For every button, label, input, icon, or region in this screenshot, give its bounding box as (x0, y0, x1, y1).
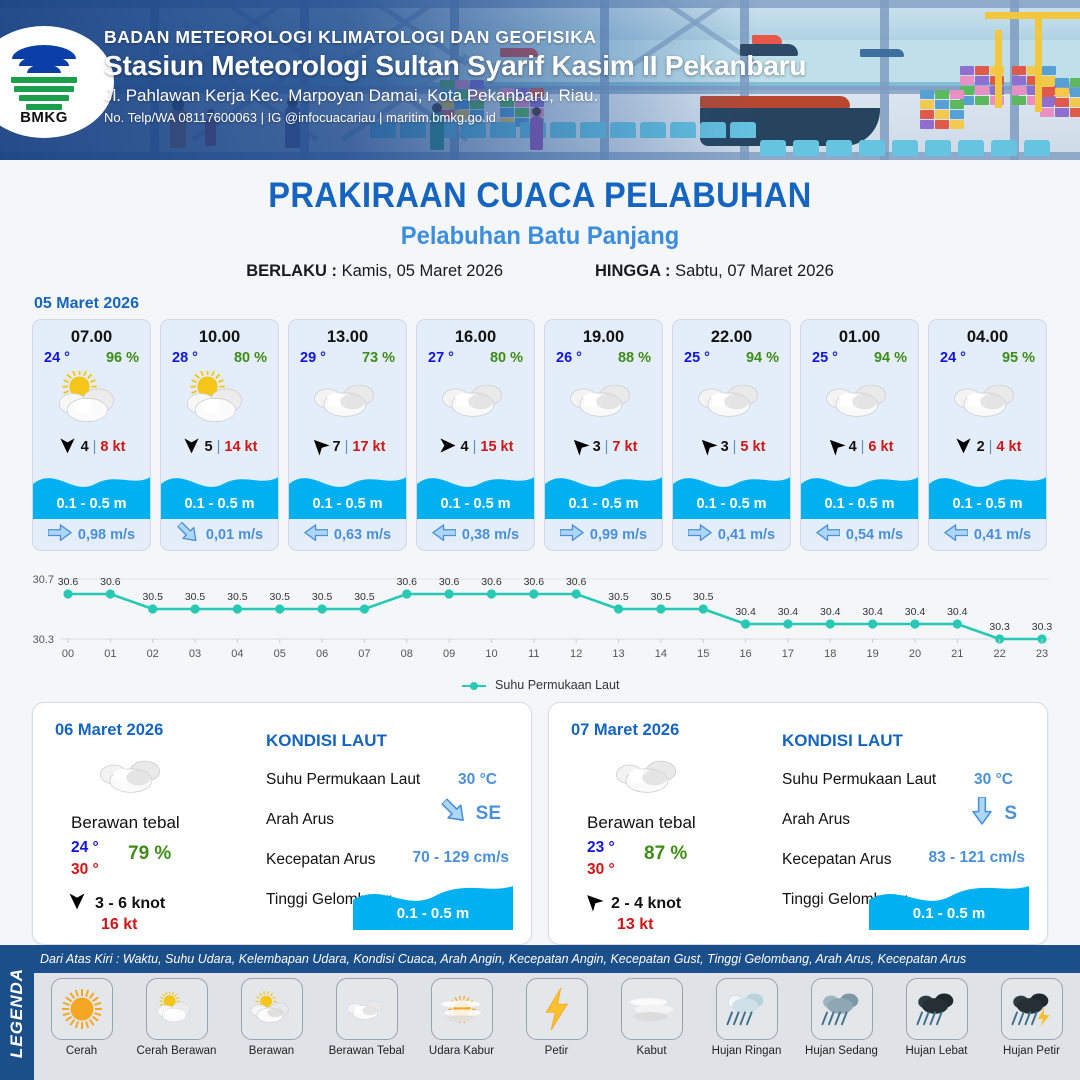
svg-text:21: 21 (951, 648, 963, 660)
day-gust: 16 kt (101, 916, 137, 934)
card-current-row: 0,98 m/s (33, 519, 150, 550)
card-time: 13.00 (289, 320, 406, 347)
cloud-icon (673, 368, 790, 430)
daily-forecast-panel[interactable]: 07 Maret 2026 Berawan tebal 23 ° 30 ° 87… (548, 702, 1048, 945)
legend-item-label: Cerah Berawan (137, 1045, 217, 1058)
forecast-card[interactable]: 01.00 25 ° 94 % 4 | 6 kt 0.1 - 0.5 m (800, 319, 919, 551)
card-current-speed: 0,01 m/s (206, 527, 263, 543)
card-temperature: 24 ° (940, 350, 966, 366)
separator: | (473, 439, 477, 455)
separator: | (861, 439, 865, 455)
legend-label: Suhu Permukaan Laut (495, 678, 619, 692)
legend-item: Hujan Petir (984, 973, 1079, 1058)
sea-surface-temp-value: 30 °C (974, 771, 1013, 789)
card-wind-speed: 3 (593, 439, 601, 455)
card-wave: 0.1 - 0.5 m (161, 464, 278, 519)
legend-tab: LEGENDA (0, 945, 34, 1080)
wind-direction-icon (826, 436, 845, 459)
valid-from-label: BERLAKU : (246, 262, 337, 280)
card-wave-height: 0.1 - 0.5 m (673, 496, 790, 512)
card-wind-row: 4 | 8 kt (33, 430, 150, 464)
card-wind-row: 5 | 14 kt (161, 430, 278, 464)
card-current-row: 0,38 m/s (417, 519, 534, 550)
day-wave: 0.1 - 0.5 m (353, 878, 513, 930)
svg-text:16: 16 (739, 648, 751, 660)
card-wind-speed: 2 (977, 439, 985, 455)
svg-text:10: 10 (485, 648, 497, 660)
current-direction-icon (176, 524, 200, 545)
cloud-icon (289, 368, 406, 430)
card-current-speed: 0,41 m/s (718, 527, 775, 543)
svg-text:30.6: 30.6 (439, 576, 460, 588)
legend-item-label: Cerah (66, 1045, 97, 1058)
day-row-label: Arah Arus (782, 811, 850, 829)
day-wind-speed: 2 - 4 knot (611, 895, 681, 913)
legend-item: Hujan Ringan (699, 973, 794, 1058)
svg-text:01: 01 (104, 648, 116, 660)
card-temp-humidity: 24 ° 96 % (33, 347, 150, 366)
svg-text:11: 11 (528, 648, 539, 660)
card-wave-height: 0.1 - 0.5 m (801, 496, 918, 512)
card-wave: 0.1 - 0.5 m (929, 464, 1046, 519)
logo-text: BMKG (5, 109, 83, 126)
day-row-label: Kecepatan Arus (266, 851, 375, 869)
day-date: 07 Maret 2026 (571, 721, 679, 740)
day-temp-min: 23 ° (587, 839, 615, 857)
card-gust: 8 kt (100, 439, 125, 455)
svg-text:04: 04 (231, 648, 243, 660)
valid-from-value: Kamis, 05 Maret 2026 (342, 262, 503, 280)
card-wave-height: 0.1 - 0.5 m (161, 496, 278, 512)
station-address: Jl. Pahlawan Kerja Kec. Marpoyan Damai, … (104, 86, 806, 106)
svg-text:30.5: 30.5 (227, 591, 248, 603)
haze-icon (431, 978, 493, 1040)
title-block: PRAKIRAAN CUACA PELABUHAN Pelabuhan Batu… (0, 176, 1080, 281)
card-wave-height: 0.1 - 0.5 m (929, 496, 1046, 512)
legend-item-label: Udara Kabur (429, 1045, 494, 1058)
card-humidity: 96 % (106, 350, 139, 366)
legend-item: Udara Kabur (414, 973, 509, 1058)
chart-legend: Suhu Permukaan Laut (0, 678, 1080, 692)
svg-text:15: 15 (697, 648, 709, 660)
separator: | (733, 439, 737, 455)
legend-item: Kabut (604, 973, 699, 1058)
svg-text:30.4: 30.4 (820, 606, 841, 618)
day-date: 06 Maret 2026 (55, 721, 163, 740)
fog-icon (621, 978, 683, 1040)
current-direction-value: S (1004, 803, 1017, 825)
valid-from: BERLAKU : Kamis, 05 Maret 2026 (246, 262, 503, 281)
card-current-row: 0,54 m/s (801, 519, 918, 550)
legend-item: Hujan Sedang (794, 973, 889, 1058)
sun-cloud-icon (146, 978, 208, 1040)
svg-text:19: 19 (866, 648, 878, 660)
svg-text:30.4: 30.4 (778, 606, 799, 618)
card-temperature: 27 ° (428, 350, 454, 366)
cloud-icon (95, 751, 173, 804)
card-temp-humidity: 24 ° 95 % (929, 347, 1046, 366)
svg-text:30.4: 30.4 (947, 606, 968, 618)
card-current-speed: 0,38 m/s (462, 527, 519, 543)
sun-cloud-icon (33, 368, 150, 430)
card-current-speed: 0,54 m/s (846, 527, 903, 543)
legend-item-label: Kabut (636, 1045, 666, 1058)
svg-text:23: 23 (1036, 648, 1048, 660)
legend-item-label: Hujan Ringan (712, 1045, 782, 1058)
card-humidity: 94 % (874, 350, 907, 366)
card-time: 01.00 (801, 320, 918, 347)
day-temp-max: 30 ° (587, 861, 615, 879)
card-wave: 0.1 - 0.5 m (801, 464, 918, 519)
card-current-row: 0,41 m/s (673, 519, 790, 550)
card-wind-speed: 7 (333, 439, 341, 455)
separator: | (217, 439, 221, 455)
card-temperature: 24 ° (44, 350, 70, 366)
card-current-speed: 0,63 m/s (334, 527, 391, 543)
hourly-forecast-list: 07.00 24 ° 96 % 4 | 8 kt (0, 319, 1080, 551)
card-wave-height: 0.1 - 0.5 m (545, 496, 662, 512)
svg-text:00: 00 (62, 648, 74, 660)
svg-text:30.5: 30.5 (693, 591, 714, 603)
current-speed-value: 70 - 129 cm/s (412, 849, 509, 867)
sun-behind-cloud-icon (241, 978, 303, 1040)
header-text-block: BADAN METEOROLOGI KLIMATOLOGI DAN GEOFIS… (104, 27, 806, 125)
current-direction-icon (688, 524, 712, 545)
forecast-card[interactable]: 19.00 26 ° 88 % 3 | 7 kt 0.1 - 0.5 m (544, 319, 663, 551)
cloud-icon (336, 978, 398, 1040)
card-gust: 17 kt (352, 439, 385, 455)
card-temp-humidity: 25 ° 94 % (801, 347, 918, 366)
card-temp-humidity: 28 ° 80 % (161, 347, 278, 366)
day-humidity: 87 % (644, 843, 687, 865)
svg-text:03: 03 (189, 648, 201, 660)
day-temp-min: 24 ° (71, 839, 99, 857)
day-wave-height: 0.1 - 0.5 m (353, 905, 513, 922)
svg-text:09: 09 (443, 648, 455, 660)
card-time: 16.00 (417, 320, 534, 347)
card-current-row: 0,63 m/s (289, 519, 406, 550)
forecast-card[interactable]: 07.00 24 ° 96 % 4 | 8 kt (32, 319, 151, 551)
card-wind-speed: 4 (461, 439, 469, 455)
wind-direction-icon (954, 436, 973, 459)
card-current-row: 0,99 m/s (545, 519, 662, 550)
legend-item-label: Hujan Petir (1003, 1045, 1060, 1058)
page-title: PRAKIRAAN CUACA PELABUHAN (38, 176, 1042, 216)
station-contact: No. Telp/WA 08117600063 | IG @infocuacar… (104, 110, 806, 125)
day-gust: 13 kt (617, 916, 653, 934)
day-wave: 0.1 - 0.5 m (869, 878, 1029, 930)
lightning-icon (526, 978, 588, 1040)
card-current-row: 0,41 m/s (929, 519, 1046, 550)
forecast-card[interactable]: 16.00 27 ° 80 % 4 | 15 kt 0.1 - 0.5 m (416, 319, 535, 551)
legend-item-label: Berawan (249, 1045, 294, 1058)
sun-cloud-icon (161, 368, 278, 430)
card-wind-speed: 3 (721, 439, 729, 455)
card-temperature: 26 ° (556, 350, 582, 366)
card-wind-speed: 4 (81, 439, 89, 455)
svg-text:22: 22 (994, 648, 1006, 660)
card-wind-speed: 5 (205, 439, 213, 455)
wind-direction-icon (583, 891, 603, 916)
current-direction-icon (432, 524, 456, 545)
moderate-rain-icon (811, 978, 873, 1040)
legend-item-label: Hujan Sedang (805, 1045, 878, 1058)
svg-text:13: 13 (612, 648, 624, 660)
svg-text:05: 05 (274, 648, 286, 660)
card-humidity: 88 % (618, 350, 651, 366)
legend-tab-label: LEGENDA (7, 967, 27, 1057)
wind-direction-icon (570, 436, 589, 459)
card-time: 22.00 (673, 320, 790, 347)
forecast-card[interactable]: 04.00 24 ° 95 % 2 | 4 kt 0.1 - 0.5 m (928, 319, 1047, 551)
sea-condition-title: KONDISI LAUT (782, 731, 903, 751)
forecast-card[interactable]: 22.00 25 ° 94 % 3 | 5 kt 0.1 - 0.5 m (672, 319, 791, 551)
card-wind-row: 3 | 5 kt (673, 430, 790, 464)
svg-text:30.5: 30.5 (185, 591, 206, 603)
current-direction-icon (304, 524, 328, 545)
svg-text:30.6: 30.6 (524, 576, 545, 588)
card-current-speed: 0,99 m/s (590, 527, 647, 543)
svg-text:30.6: 30.6 (100, 576, 121, 588)
wind-direction-icon (67, 891, 87, 916)
svg-text:30.3: 30.3 (33, 634, 54, 646)
current-direction-icon (440, 801, 468, 826)
card-gust: 6 kt (868, 439, 893, 455)
day-condition: Berawan tebal (71, 813, 180, 833)
station-name: Stasiun Meteorologi Sultan Syarif Kasim … (104, 50, 806, 82)
card-gust: 5 kt (740, 439, 765, 455)
valid-until-value: Sabtu, 07 Maret 2026 (675, 262, 834, 280)
card-wave-height: 0.1 - 0.5 m (33, 496, 150, 512)
day-humidity: 79 % (128, 843, 171, 865)
card-time: 04.00 (929, 320, 1046, 347)
svg-text:02: 02 (147, 648, 159, 660)
legend-marker-icon (461, 681, 487, 691)
legend-item-label: Hujan Lebat (905, 1045, 967, 1058)
legend-item: Hujan Lebat (889, 973, 984, 1058)
card-current-speed: 0,41 m/s (974, 527, 1031, 543)
legend-item: Cerah (34, 973, 129, 1058)
separator: | (93, 439, 97, 455)
card-gust: 14 kt (224, 439, 257, 455)
day-row-label: Suhu Permukaan Laut (266, 771, 420, 789)
card-wind-row: 3 | 7 kt (545, 430, 662, 464)
cloud-icon (417, 368, 534, 430)
valid-until-label: HINGGA : (595, 262, 670, 280)
card-time: 19.00 (545, 320, 662, 347)
forecast-card[interactable]: 10.00 28 ° 80 % 5 | 14 kt (160, 319, 279, 551)
day-wind: 2 - 4 knot (583, 891, 681, 916)
svg-text:14: 14 (655, 648, 667, 660)
validity-row: BERLAKU : Kamis, 05 Maret 2026 HINGGA : … (0, 262, 1080, 281)
svg-text:30.5: 30.5 (354, 591, 375, 603)
legend-item: Cerah Berawan (129, 973, 224, 1058)
svg-text:30.6: 30.6 (397, 576, 418, 588)
card-wind-row: 4 | 6 kt (801, 430, 918, 464)
card-wave: 0.1 - 0.5 m (545, 464, 662, 519)
forecast-date-label: 05 Maret 2026 (34, 295, 1080, 313)
card-current-speed: 0,98 m/s (78, 527, 135, 543)
legend-item: Berawan (224, 973, 319, 1058)
wind-direction-icon (182, 436, 201, 459)
card-wave-height: 0.1 - 0.5 m (289, 496, 406, 512)
wind-direction-icon (58, 436, 77, 459)
card-humidity: 94 % (746, 350, 779, 366)
svg-text:30.3: 30.3 (1032, 621, 1053, 633)
agency-name: BADAN METEOROLOGI KLIMATOLOGI DAN GEOFIS… (104, 27, 806, 48)
daily-forecast-panel[interactable]: 06 Maret 2026 Berawan tebal 24 ° 30 ° 79… (32, 702, 532, 945)
svg-text:30.3: 30.3 (989, 621, 1010, 633)
legend-note: Dari Atas Kiri : Waktu, Suhu Udara, Kele… (40, 952, 966, 966)
legend-icon-strip: Cerah Cerah Berawan Berawan Berawan Teb (34, 973, 1080, 1080)
card-wind-speed: 4 (849, 439, 857, 455)
current-speed-value: 83 - 121 cm/s (928, 849, 1025, 867)
card-wave: 0.1 - 0.5 m (673, 464, 790, 519)
card-wind-row: 7 | 17 kt (289, 430, 406, 464)
card-gust: 7 kt (612, 439, 637, 455)
svg-text:12: 12 (570, 648, 582, 660)
card-humidity: 80 % (234, 350, 267, 366)
card-time: 10.00 (161, 320, 278, 347)
card-wave: 0.1 - 0.5 m (33, 464, 150, 519)
cloud-icon (545, 368, 662, 430)
card-temp-humidity: 29 ° 73 % (289, 347, 406, 366)
svg-text:30.6: 30.6 (566, 576, 587, 588)
card-humidity: 80 % (490, 350, 523, 366)
current-direction-icon (968, 801, 996, 826)
card-wave-height: 0.1 - 0.5 m (417, 496, 534, 512)
legend-section: LEGENDA Dari Atas Kiri : Waktu, Suhu Uda… (0, 945, 1080, 1080)
sea-condition-title: KONDISI LAUT (266, 731, 387, 751)
card-temperature: 29 ° (300, 350, 326, 366)
card-gust: 15 kt (480, 439, 513, 455)
svg-text:20: 20 (909, 648, 921, 660)
current-direction-row: SE (440, 801, 501, 826)
forecast-card[interactable]: 13.00 29 ° 73 % 7 | 17 kt 0.1 - 0.5 m (288, 319, 407, 551)
svg-text:30.5: 30.5 (608, 591, 629, 603)
day-row-label: Arah Arus (266, 811, 334, 829)
legend-item: Berawan Tebal (319, 973, 414, 1058)
svg-text:30.4: 30.4 (862, 606, 883, 618)
svg-text:18: 18 (824, 648, 836, 660)
svg-text:30.5: 30.5 (312, 591, 333, 603)
day-condition: Berawan tebal (587, 813, 696, 833)
separator: | (989, 439, 993, 455)
card-wave: 0.1 - 0.5 m (417, 464, 534, 519)
legend-item: Petir (509, 973, 604, 1058)
valid-until: HINGGA : Sabtu, 07 Maret 2026 (595, 262, 834, 281)
wind-direction-icon (438, 436, 457, 459)
day-wave-height: 0.1 - 0.5 m (869, 905, 1029, 922)
daily-forecast-panels: 06 Maret 2026 Berawan tebal 24 ° 30 ° 79… (0, 702, 1080, 945)
cloud-icon (929, 368, 1046, 430)
legend-item-label: Petir (545, 1045, 569, 1058)
light-rain-icon (716, 978, 778, 1040)
card-temperature: 25 ° (812, 350, 838, 366)
sea-surface-temp-value: 30 °C (458, 771, 497, 789)
current-direction-icon (48, 524, 72, 545)
svg-text:30.7: 30.7 (33, 574, 54, 586)
page-subtitle: Pelabuhan Batu Panjang (27, 222, 1053, 251)
cloud-icon (801, 368, 918, 430)
svg-text:07: 07 (358, 648, 370, 660)
current-direction-value: SE (476, 803, 501, 825)
cloud-icon (611, 751, 689, 804)
card-temperature: 25 ° (684, 350, 710, 366)
svg-text:08: 08 (401, 648, 413, 660)
svg-text:17: 17 (782, 648, 794, 660)
page-header: BMKG BADAN METEOROLOGI KLIMATOLOGI DAN G… (0, 0, 1080, 160)
svg-text:30.4: 30.4 (735, 606, 756, 618)
card-time: 07.00 (33, 320, 150, 347)
current-direction-icon (560, 524, 584, 545)
sun-icon (51, 978, 113, 1040)
current-direction-icon (944, 524, 968, 545)
card-temp-humidity: 27 ° 80 % (417, 347, 534, 366)
wind-direction-icon (698, 436, 717, 459)
wind-direction-icon (310, 436, 329, 459)
separator: | (605, 439, 609, 455)
card-wind-row: 4 | 15 kt (417, 430, 534, 464)
day-wind-speed: 3 - 6 knot (95, 895, 165, 913)
card-current-row: 0,01 m/s (161, 519, 278, 550)
card-temp-humidity: 26 ° 88 % (545, 347, 662, 366)
day-temp-max: 30 ° (71, 861, 99, 879)
card-wave: 0.1 - 0.5 m (289, 464, 406, 519)
day-row-label: Suhu Permukaan Laut (782, 771, 936, 789)
card-humidity: 95 % (1002, 350, 1035, 366)
day-wind: 3 - 6 knot (67, 891, 165, 916)
current-direction-row: S (968, 801, 1017, 826)
card-temperature: 28 ° (172, 350, 198, 366)
current-direction-icon (816, 524, 840, 545)
card-gust: 4 kt (996, 439, 1021, 455)
card-temp-humidity: 25 ° 94 % (673, 347, 790, 366)
svg-text:30.5: 30.5 (270, 591, 291, 603)
svg-text:30.6: 30.6 (481, 576, 502, 588)
thunderstorm-icon (1001, 978, 1063, 1040)
svg-text:30.4: 30.4 (905, 606, 926, 618)
heavy-rain-icon (906, 978, 968, 1040)
svg-text:06: 06 (316, 648, 328, 660)
sst-chart: 30.730.330.630.630.530.530.530.530.530.5… (0, 561, 1080, 676)
day-row-label: Kecepatan Arus (782, 851, 891, 869)
svg-text:30.6: 30.6 (58, 576, 79, 588)
separator: | (345, 439, 349, 455)
card-humidity: 73 % (362, 350, 395, 366)
svg-text:30.5: 30.5 (651, 591, 672, 603)
svg-text:30.5: 30.5 (142, 591, 163, 603)
legend-item-label: Berawan Tebal (329, 1045, 405, 1058)
card-wind-row: 2 | 4 kt (929, 430, 1046, 464)
